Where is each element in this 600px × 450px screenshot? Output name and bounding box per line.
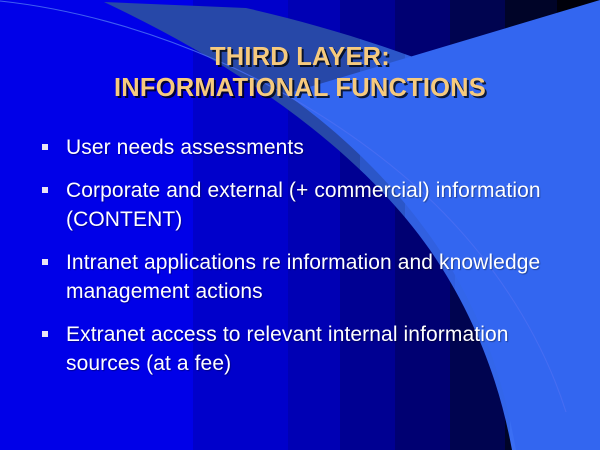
list-item: User needs assessments — [42, 133, 570, 162]
list-item-label: Intranet applications re information and… — [66, 248, 570, 306]
square-bullet-icon — [42, 259, 48, 265]
list-item-label: User needs assessments — [66, 133, 570, 162]
bullet-list: User needs assessments Corporate and ext… — [42, 133, 570, 392]
square-bullet-icon — [42, 144, 48, 150]
square-bullet-icon — [42, 331, 48, 337]
list-item: Extranet access to relevant internal inf… — [42, 320, 570, 378]
list-item-label: Extranet access to relevant internal inf… — [66, 320, 570, 378]
slide-content: THIRD LAYER: INFORMATIONAL FUNCTIONS Use… — [0, 0, 600, 450]
list-item-label: Corporate and external (+ commercial) in… — [66, 176, 570, 234]
list-item: Intranet applications re information and… — [42, 248, 570, 306]
slide-canvas: THIRD LAYER: INFORMATIONAL FUNCTIONS Use… — [0, 0, 600, 450]
square-bullet-icon — [42, 187, 48, 193]
list-item: Corporate and external (+ commercial) in… — [42, 176, 570, 234]
slide-title: THIRD LAYER: INFORMATIONAL FUNCTIONS — [0, 42, 600, 104]
